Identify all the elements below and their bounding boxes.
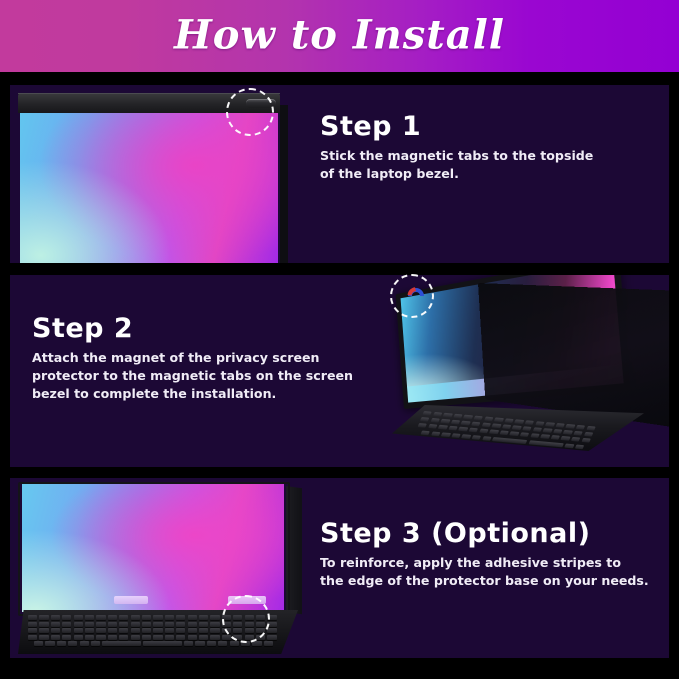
keyboard-key	[85, 622, 94, 627]
keyboard-key	[28, 622, 37, 627]
keyboard-key	[96, 628, 105, 633]
keyboard-key	[489, 430, 499, 435]
keyboard-key	[430, 418, 440, 423]
keyboard-key	[481, 423, 491, 428]
keyboard-key	[62, 622, 71, 627]
keyboard-key	[85, 615, 94, 620]
step-3-text-block: Step 3 (Optional) To reinforce, apply th…	[320, 520, 649, 590]
keyboard-key	[530, 434, 540, 439]
keyboard-key	[502, 425, 512, 430]
keyboard-key	[463, 415, 473, 420]
keyboard-key	[210, 628, 219, 633]
keyboard-key	[207, 641, 216, 646]
keyboard-key	[188, 628, 197, 633]
keyboard-key	[74, 615, 83, 620]
keyboard-key	[102, 641, 141, 646]
keyboard-key	[28, 635, 37, 640]
keyboard-key	[492, 437, 528, 444]
step-3-body-line-2: the edge of the protector base on your n…	[320, 572, 649, 590]
keyboard-key	[428, 424, 438, 429]
keyboard-key	[195, 641, 204, 646]
keyboard-key	[512, 426, 522, 431]
keyboard-key	[188, 615, 197, 620]
keyboard-key	[57, 641, 66, 646]
keyboard-key	[51, 635, 60, 640]
keyboard-key	[543, 428, 553, 433]
header-banner: How to Install	[0, 0, 679, 72]
keyboard-key	[39, 622, 48, 627]
keyboard-key	[581, 438, 591, 443]
keyboard-key	[96, 635, 105, 640]
keyboard-key	[39, 628, 48, 633]
laptop-screen-gradient	[20, 113, 278, 263]
keyboard-key	[74, 635, 83, 640]
keyboard-key	[119, 628, 128, 633]
keyboard-key	[576, 425, 586, 430]
keyboard-key	[484, 417, 494, 422]
keyboard-key	[532, 427, 542, 432]
keyboard-key	[441, 432, 451, 437]
step-1-body: Stick the magnetic tabs to the topside o…	[320, 147, 593, 183]
keyboard-key	[62, 615, 71, 620]
keyboard-key	[433, 412, 443, 417]
keyboard-key	[74, 622, 83, 627]
keyboard-key	[68, 641, 77, 646]
keyboard-key	[494, 417, 504, 422]
keyboard-key	[417, 423, 427, 428]
keyboard-key	[142, 622, 151, 627]
keyboard-key	[51, 622, 60, 627]
keyboard-key	[586, 426, 596, 431]
highlight-circle-step-3	[222, 595, 270, 643]
keyboard-key	[153, 622, 162, 627]
keyboard-key	[461, 421, 471, 426]
keyboard-key	[210, 635, 219, 640]
keyboard-key	[545, 422, 555, 427]
keyboard-key	[440, 419, 450, 424]
keyboard-key	[91, 641, 100, 646]
keyboard-key	[528, 440, 564, 447]
keyboard-key	[176, 622, 185, 627]
keyboard-key	[188, 635, 197, 640]
keyboard-key	[499, 431, 509, 436]
keyboard-key	[573, 431, 583, 436]
privacy-screen-protector	[478, 283, 669, 429]
keyboard-key	[96, 615, 105, 620]
keyboard-key	[555, 423, 565, 428]
keyboard-key	[153, 615, 162, 620]
keyboard-key	[153, 628, 162, 633]
keyboard-key	[85, 635, 94, 640]
keyboard-key	[267, 635, 276, 640]
keyboard-key	[561, 436, 571, 441]
keyboard-key	[571, 437, 581, 442]
panel-step-1: Step 1 Stick the magnetic tabs to the to…	[10, 85, 669, 263]
keyboard-key	[199, 635, 208, 640]
keyboard-key	[62, 628, 71, 633]
keyboard-key	[218, 641, 227, 646]
keyboard-key	[39, 635, 48, 640]
keyboard-key	[525, 420, 535, 425]
keyboard-key	[131, 622, 140, 627]
keyboard-key	[540, 435, 550, 440]
keyboard-key	[45, 641, 54, 646]
keyboard-key	[210, 615, 219, 620]
step-3-title: Step 3 (Optional)	[320, 520, 649, 548]
keyboard-key	[28, 615, 37, 620]
keyboard-key	[28, 628, 37, 633]
step-1-body-line-2: of the laptop bezel.	[320, 165, 593, 183]
keyboard-key	[448, 426, 458, 431]
keyboard-key	[131, 615, 140, 620]
keyboard-key	[230, 641, 239, 646]
keyboard-key	[514, 419, 524, 424]
keyboard-key	[522, 426, 532, 431]
keyboard-key	[80, 641, 89, 646]
keyboard-key	[583, 432, 593, 437]
keyboard-key	[108, 615, 117, 620]
keyboard-key	[176, 635, 185, 640]
highlight-circle-step-1	[226, 88, 274, 136]
keyboard-key	[458, 427, 468, 432]
keyboard-key	[438, 425, 448, 430]
keyboard-key	[142, 628, 151, 633]
keyboard-key	[479, 429, 489, 434]
laptop-side-edge	[280, 105, 288, 263]
keyboard-key	[471, 422, 481, 427]
step-2-body: Attach the magnet of the privacy screen …	[32, 349, 353, 403]
step-2-body-line-1: Attach the magnet of the privacy screen	[32, 349, 353, 367]
keyboard-key	[188, 622, 197, 627]
keyboard-key	[39, 615, 48, 620]
keyboard-key	[85, 628, 94, 633]
keyboard-key	[575, 444, 585, 449]
keyboard-key	[34, 641, 43, 646]
keyboard-key	[469, 428, 479, 433]
step-1-body-line-1: Stick the magnetic tabs to the topside	[320, 147, 593, 165]
keyboard-key	[563, 430, 573, 435]
step-2-title: Step 2	[32, 315, 353, 343]
keyboard-key	[51, 615, 60, 620]
keyboard-key	[131, 628, 140, 633]
keyboard-key	[119, 615, 128, 620]
step-1-text-block: Step 1 Stick the magnetic tabs to the to…	[320, 113, 593, 183]
keyboard-key	[184, 641, 193, 646]
keyboard-key	[264, 641, 273, 646]
keyboard-key	[443, 413, 453, 418]
keyboard-key	[96, 622, 105, 627]
keyboard-key	[176, 615, 185, 620]
keyboard-key	[252, 641, 261, 646]
keyboard-key	[119, 635, 128, 640]
keyboard-key	[108, 635, 117, 640]
panel-step-2: Step 2 Attach the magnet of the privacy …	[10, 275, 669, 467]
keyboard-key	[451, 433, 461, 438]
step-2-body-line-2: protector to the magnetic tabs on the sc…	[32, 367, 353, 385]
keyboard-key	[267, 628, 276, 633]
keyboard-key	[453, 414, 463, 419]
keyboard-key	[142, 635, 151, 640]
keyboard-key	[131, 635, 140, 640]
keyboard-key	[553, 429, 563, 434]
keyboard-key	[535, 421, 545, 426]
keyboard-key	[210, 622, 219, 627]
keyboard-key	[143, 641, 182, 646]
keyboard-key	[482, 436, 492, 441]
keyboard-key	[421, 430, 431, 435]
step-2-text-block: Step 2 Attach the magnet of the privacy …	[32, 315, 353, 403]
step-1-title: Step 1	[320, 113, 593, 141]
keyboard-key	[550, 435, 560, 440]
keyboard-key	[165, 615, 174, 620]
step-2-body-line-3: bezel to complete the installation.	[32, 385, 353, 403]
keyboard-key	[176, 628, 185, 633]
keyboard-key	[462, 434, 472, 439]
infographic-root: How to Install Step 1 Stick the magnetic…	[0, 0, 679, 679]
keyboard-key	[165, 635, 174, 640]
keyboard-key	[420, 417, 430, 422]
highlight-circle-step-2	[390, 274, 434, 318]
keyboard-key	[51, 628, 60, 633]
keyboard-key	[153, 635, 162, 640]
keyboard-key	[491, 424, 501, 429]
keyboard-key	[199, 628, 208, 633]
keyboard-key	[165, 628, 174, 633]
keyboard-key	[431, 431, 441, 436]
keyboard-key	[451, 420, 461, 425]
keyboard-key	[108, 622, 117, 627]
keyboard-key	[199, 622, 208, 627]
panel-step-3: Step 3 (Optional) To reinforce, apply th…	[10, 478, 669, 658]
keyboard-key	[74, 628, 83, 633]
keyboard-key	[504, 418, 514, 423]
keyboard-key	[422, 411, 432, 416]
keyboard-key	[62, 635, 71, 640]
step-3-body-line-1: To reinforce, apply the adhesive stripes…	[320, 554, 649, 572]
keyboard-key	[566, 424, 576, 429]
step-3-body: To reinforce, apply the adhesive stripes…	[320, 554, 649, 590]
keyboard-key	[165, 622, 174, 627]
page-title: How to Install	[0, 12, 679, 59]
keyboard-key	[509, 432, 519, 437]
keyboard-key	[474, 416, 484, 421]
keyboard-key	[142, 615, 151, 620]
keyboard-key	[199, 615, 208, 620]
keyboard-key	[119, 622, 128, 627]
keyboard-key	[520, 433, 530, 438]
keyboard-key	[472, 435, 482, 440]
keyboard-key	[565, 443, 575, 448]
keyboard-key	[108, 628, 117, 633]
